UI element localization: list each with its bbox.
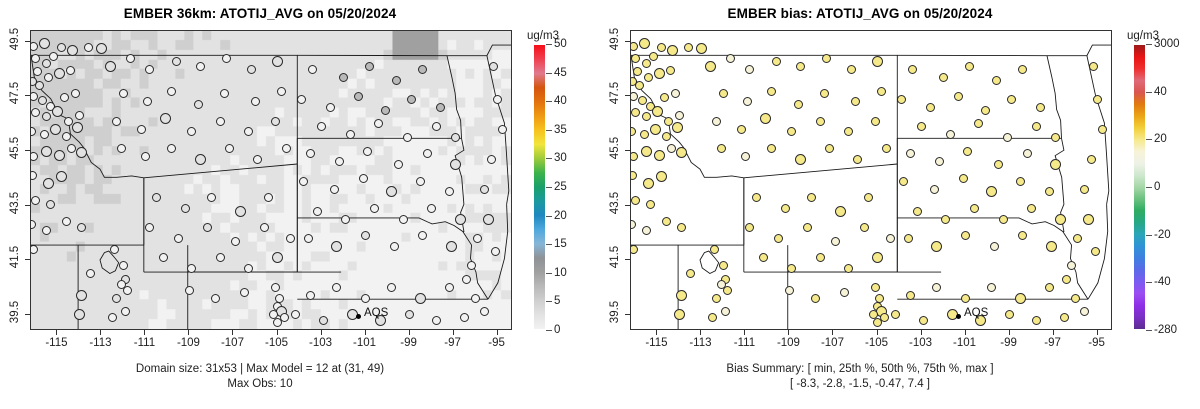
x-axis-label: -101 xyxy=(353,337,376,349)
colorbar-tick xyxy=(546,301,552,302)
colorbar-tick-label: 30 xyxy=(554,152,567,164)
station-marker xyxy=(493,95,502,104)
y-axis-tick xyxy=(625,41,630,42)
station-marker xyxy=(719,261,728,270)
station-marker xyxy=(137,125,146,134)
x-axis-tick xyxy=(321,330,322,335)
station-marker xyxy=(796,62,805,71)
station-marker xyxy=(71,89,80,98)
station-marker xyxy=(1067,261,1076,270)
station-marker xyxy=(794,100,803,109)
station-marker xyxy=(110,245,119,254)
colorbar-tick xyxy=(546,44,552,45)
station-marker xyxy=(760,113,771,124)
station-marker xyxy=(726,54,735,63)
colorbar-tick-label: -40 xyxy=(1154,276,1171,288)
x-axis-label: -105 xyxy=(865,337,888,349)
station-marker xyxy=(30,245,38,254)
station-marker xyxy=(407,95,416,104)
station-marker xyxy=(899,177,908,186)
station-marker xyxy=(105,61,116,72)
station-marker xyxy=(455,214,466,225)
station-marker xyxy=(299,177,308,186)
x-axis-label: -95 xyxy=(1088,337,1105,349)
station-marker xyxy=(877,87,886,96)
station-marker xyxy=(271,283,280,292)
station-marker xyxy=(1062,275,1071,284)
station-marker xyxy=(487,155,496,164)
aqs-legend-label: AQS xyxy=(964,307,988,319)
station-marker xyxy=(235,206,246,217)
station-marker xyxy=(882,144,891,153)
station-marker xyxy=(1045,283,1054,292)
x-axis-label: -97 xyxy=(444,337,461,349)
y-axis-tick xyxy=(25,41,30,42)
x-axis-label: -97 xyxy=(1044,337,1061,349)
caption-bias: Bias Summary: [ min, 25th %, 50th %, 75t… xyxy=(600,362,1120,392)
x-axis-label: -111 xyxy=(134,337,155,349)
station-marker xyxy=(432,122,441,131)
station-marker xyxy=(654,150,665,161)
station-marker xyxy=(672,122,683,133)
station-marker xyxy=(160,113,171,124)
station-marker xyxy=(39,38,50,49)
y-axis-label: 49.5 xyxy=(9,28,21,50)
station-marker xyxy=(963,147,972,156)
station-marker xyxy=(50,124,61,135)
station-marker xyxy=(1023,149,1032,158)
station-marker xyxy=(708,313,717,322)
y-axis-label: 47.5 xyxy=(609,82,621,104)
station-marker xyxy=(30,92,38,101)
station-marker xyxy=(649,52,658,61)
station-marker xyxy=(630,171,637,180)
station-marker xyxy=(260,223,269,232)
station-marker xyxy=(346,130,355,139)
station-marker xyxy=(415,293,426,304)
station-marker xyxy=(390,242,399,251)
station-marker xyxy=(119,261,128,270)
station-marker xyxy=(676,147,687,158)
station-marker xyxy=(908,65,917,74)
station-marker xyxy=(919,316,928,325)
station-marker xyxy=(667,144,676,153)
station-marker xyxy=(1055,214,1066,225)
station-marker xyxy=(271,117,280,126)
station-marker xyxy=(752,193,761,202)
x-axis-tick xyxy=(232,330,233,335)
station-marker xyxy=(174,234,183,243)
station-marker xyxy=(886,234,895,243)
x-axis-label: -99 xyxy=(1000,337,1017,349)
station-marker xyxy=(737,125,746,134)
colorbar-bias: ug/m3 -280-40-20020403000 xyxy=(1127,30,1197,330)
station-marker xyxy=(152,193,161,202)
station-marker xyxy=(446,241,457,252)
y-axis-tick xyxy=(625,95,630,96)
station-marker xyxy=(787,264,796,273)
panel-model: EMBER 36km: ATOTIJ_AVG on 05/20/2024 AQS… xyxy=(0,0,600,409)
station-marker xyxy=(630,152,638,161)
station-marker xyxy=(304,234,313,243)
station-marker xyxy=(330,185,339,194)
colorbar-tick xyxy=(546,101,552,102)
station-marker xyxy=(774,234,783,243)
x-axis-tick xyxy=(188,330,189,335)
station-marker xyxy=(75,111,84,120)
station-marker xyxy=(216,253,225,262)
colorbar-tick-label: 40 xyxy=(1154,86,1167,98)
station-marker xyxy=(126,54,135,63)
x-axis-label: -103 xyxy=(309,337,332,349)
x-axis-tick xyxy=(1097,330,1098,335)
panel-bias: EMBER bias: ATOTIJ_AVG on 05/20/2024 AQS… xyxy=(600,0,1200,409)
x-axis-tick xyxy=(277,330,278,335)
x-axis-tick xyxy=(100,330,101,335)
station-marker xyxy=(970,204,979,213)
station-marker xyxy=(247,65,256,74)
station-marker xyxy=(1032,122,1041,131)
colorbar-tick xyxy=(1146,44,1152,45)
station-marker xyxy=(72,122,83,133)
station-marker xyxy=(1060,313,1069,322)
station-marker xyxy=(939,73,948,82)
colorbar-tick-label: 3000 xyxy=(1154,38,1180,50)
station-marker xyxy=(123,286,132,295)
station-marker xyxy=(825,144,834,153)
station-marker xyxy=(1018,65,1027,74)
station-marker xyxy=(272,56,283,67)
y-axis-tick xyxy=(625,205,630,206)
station-marker xyxy=(286,234,295,243)
station-marker xyxy=(313,207,322,216)
station-marker xyxy=(392,76,401,85)
station-marker xyxy=(423,149,432,158)
x-axis-label: -101 xyxy=(953,337,976,349)
station-marker xyxy=(54,150,65,161)
colorbar-tick xyxy=(546,330,552,331)
station-marker xyxy=(667,45,678,56)
colorbar-tick-label: 15 xyxy=(554,238,567,250)
station-marker xyxy=(30,152,38,161)
station-marker xyxy=(272,252,283,263)
station-marker xyxy=(54,68,65,79)
station-marker xyxy=(60,93,69,102)
station-marker xyxy=(326,103,335,112)
x-axis-tick xyxy=(965,330,966,335)
colorbar-tick xyxy=(546,216,552,217)
station-marker xyxy=(225,144,234,153)
station-marker xyxy=(317,122,326,131)
y-axis-label: 43.5 xyxy=(609,191,621,213)
station-marker xyxy=(677,223,686,232)
station-marker xyxy=(96,43,107,54)
station-marker xyxy=(339,73,348,82)
colorbar-tick xyxy=(1146,282,1152,283)
colorbar-gradient xyxy=(1133,44,1146,330)
station-marker xyxy=(427,204,436,213)
station-marker xyxy=(652,106,663,117)
station-marker xyxy=(660,93,669,102)
station-marker xyxy=(723,286,732,295)
station-marker xyxy=(767,87,776,96)
station-marker xyxy=(913,207,922,216)
station-marker xyxy=(64,117,73,126)
station-marker xyxy=(432,316,441,325)
station-marker xyxy=(1083,214,1094,225)
station-marker xyxy=(291,310,300,319)
station-marker xyxy=(990,242,999,251)
station-marker xyxy=(399,215,408,224)
station-marker xyxy=(185,286,194,295)
station-marker xyxy=(745,65,754,74)
colorbar-tick xyxy=(546,244,552,245)
x-axis-label: -99 xyxy=(400,337,417,349)
station-marker xyxy=(363,147,372,156)
station-marker xyxy=(1071,294,1080,303)
station-marker xyxy=(639,38,650,49)
station-marker xyxy=(52,106,63,117)
station-marker xyxy=(231,237,240,246)
station-marker xyxy=(630,42,638,51)
station-marker xyxy=(795,154,806,165)
station-marker xyxy=(38,96,47,105)
station-marker xyxy=(712,117,721,126)
station-marker xyxy=(359,174,368,183)
colorbar-tick-label: 10 xyxy=(554,267,567,279)
y-axis-tick xyxy=(25,95,30,96)
station-marker xyxy=(630,92,638,101)
station-marker xyxy=(498,125,507,134)
station-marker xyxy=(644,73,653,82)
station-marker xyxy=(891,310,900,319)
map-bias[interactable]: AQS xyxy=(630,30,1112,330)
station-marker xyxy=(187,264,196,273)
station-marker xyxy=(41,146,52,157)
caption-line-2: [ -8.3, -2.8, -1.5, -0.47, 7.4 ] xyxy=(600,377,1120,392)
station-marker xyxy=(460,313,469,322)
caption-line-1: Domain size: 31x53 | Max Model = 12 at (… xyxy=(0,362,520,377)
y-axis-label: 49.5 xyxy=(609,28,621,50)
station-marker xyxy=(717,144,726,153)
station-marker xyxy=(1087,155,1096,164)
station-marker xyxy=(381,106,390,115)
station-marker xyxy=(77,223,86,232)
station-marker xyxy=(785,286,794,295)
y-axis-label: 43.5 xyxy=(9,191,21,213)
colorbar-tick xyxy=(546,158,552,159)
station-marker xyxy=(31,54,40,63)
station-marker xyxy=(671,89,680,98)
station-marker xyxy=(62,132,71,141)
station-marker xyxy=(44,73,53,82)
colorbar-tick-label: 5 xyxy=(554,295,560,307)
station-marker xyxy=(194,100,203,109)
colorbar-tick xyxy=(1146,187,1152,188)
x-axis-tick xyxy=(656,330,657,335)
station-marker xyxy=(664,117,673,126)
station-marker xyxy=(710,245,719,254)
y-axis-label: 39.5 xyxy=(609,300,621,322)
station-marker xyxy=(926,103,935,112)
x-axis-tick xyxy=(365,330,366,335)
colorbar-tick-label: 35 xyxy=(554,124,567,136)
station-marker xyxy=(297,95,306,104)
station-marker xyxy=(871,283,880,292)
station-marker xyxy=(992,76,1001,85)
x-axis-tick xyxy=(453,330,454,335)
station-marker xyxy=(853,155,862,164)
station-marker xyxy=(203,223,212,232)
station-marker xyxy=(277,87,286,96)
station-marker xyxy=(462,275,471,284)
station-marker xyxy=(74,309,85,320)
station-marker xyxy=(1089,62,1098,71)
station-marker xyxy=(860,223,869,232)
station-marker xyxy=(117,144,126,153)
station-marker xyxy=(418,65,427,74)
station-marker xyxy=(1032,316,1041,325)
station-marker xyxy=(167,87,176,96)
colorbar-tick xyxy=(1146,139,1152,140)
x-axis-tick xyxy=(744,330,745,335)
colorbar-tick-label: 25 xyxy=(554,181,567,193)
station-marker xyxy=(1080,185,1089,194)
y-axis-tick xyxy=(25,314,30,315)
station-marker xyxy=(1098,125,1107,134)
station-marker xyxy=(904,234,913,243)
colorbar-tick-label: 20 xyxy=(554,210,567,222)
colorbar-tick-label: 40 xyxy=(554,95,567,107)
station-marker xyxy=(935,157,944,166)
x-axis-tick xyxy=(700,330,701,335)
station-marker xyxy=(46,200,55,209)
station-marker xyxy=(684,43,693,52)
colorbar-tick xyxy=(546,187,552,188)
station-marker xyxy=(631,196,640,205)
x-axis-label: -95 xyxy=(488,337,505,349)
station-marker xyxy=(941,215,950,224)
station-marker xyxy=(145,65,154,74)
station-marker xyxy=(631,54,640,63)
station-marker xyxy=(49,52,58,61)
colorbar-tick-label: -280 xyxy=(1154,324,1177,336)
station-marker xyxy=(696,43,707,54)
station-marker xyxy=(759,253,768,262)
panel-title-bias: EMBER bias: ATOTIJ_AVG on 05/20/2024 xyxy=(600,6,1120,21)
station-marker xyxy=(641,146,652,157)
station-marker xyxy=(1016,177,1025,186)
station-marker xyxy=(772,57,781,66)
y-axis-tick xyxy=(625,314,630,315)
colorbar-tick xyxy=(546,273,552,274)
x-axis-label: -109 xyxy=(177,337,200,349)
station-marker xyxy=(403,133,412,142)
station-marker xyxy=(436,103,445,112)
x-axis-tick xyxy=(409,330,410,335)
y-axis-label: 41.5 xyxy=(9,246,21,268)
station-marker xyxy=(640,130,649,139)
station-marker xyxy=(1007,95,1016,104)
caption-line-2: Max Obs: 10 xyxy=(0,377,520,392)
station-marker xyxy=(67,144,76,153)
station-marker xyxy=(816,253,825,262)
station-marker xyxy=(1027,204,1036,213)
station-marker xyxy=(906,291,915,300)
colorbar-tick xyxy=(546,73,552,74)
station-marker xyxy=(1003,133,1012,142)
caption-model: Domain size: 31x53 | Max Model = 12 at (… xyxy=(0,362,520,392)
x-axis-tick xyxy=(1053,330,1054,335)
station-marker xyxy=(930,185,939,194)
aqs-legend-dot xyxy=(956,314,961,319)
station-marker xyxy=(341,215,350,224)
y-axis-label: 41.5 xyxy=(609,246,621,268)
station-marker xyxy=(483,214,494,225)
station-marker xyxy=(306,291,315,300)
station-marker xyxy=(1036,103,1045,112)
y-axis-label: 45.5 xyxy=(9,137,21,159)
station-marker xyxy=(159,253,168,262)
station-marker xyxy=(319,316,328,325)
y-axis-label: 45.5 xyxy=(609,137,621,159)
station-marker xyxy=(361,231,370,240)
station-marker xyxy=(141,152,150,161)
x-axis-label: -113 xyxy=(689,337,711,349)
station-marker xyxy=(872,252,883,263)
station-marker xyxy=(195,154,206,165)
caption-line-1: Bias Summary: [ min, 25th %, 50th %, 75t… xyxy=(600,362,1120,377)
station-marker xyxy=(467,261,476,270)
station-marker xyxy=(917,122,926,131)
x-axis-label: -113 xyxy=(89,337,111,349)
station-marker xyxy=(807,193,816,202)
x-axis-tick xyxy=(497,330,498,335)
x-axis-label: -109 xyxy=(777,337,800,349)
station-marker xyxy=(181,204,190,213)
station-marker xyxy=(1046,241,1057,252)
station-marker xyxy=(416,177,425,186)
station-marker xyxy=(31,196,40,205)
station-marker xyxy=(282,144,291,153)
station-marker xyxy=(961,294,970,303)
aqs-legend-label: AQS xyxy=(364,307,388,319)
station-marker xyxy=(872,56,883,67)
station-marker xyxy=(946,130,955,139)
station-marker xyxy=(196,62,205,71)
colorbar-tick xyxy=(1146,92,1152,93)
station-marker xyxy=(471,294,480,303)
station-marker xyxy=(642,226,651,235)
station-marker xyxy=(30,171,37,180)
station-marker xyxy=(831,237,840,246)
station-marker xyxy=(897,95,906,104)
station-marker xyxy=(674,309,685,320)
x-axis-label: -111 xyxy=(734,337,755,349)
panel-title-model: EMBER 36km: ATOTIJ_AVG on 05/20/2024 xyxy=(0,6,520,21)
station-marker xyxy=(999,215,1008,224)
y-axis-label: 47.5 xyxy=(9,82,21,104)
x-axis-tick xyxy=(56,330,57,335)
station-marker xyxy=(84,43,93,52)
y-axis-label: 39.5 xyxy=(9,300,21,322)
station-marker xyxy=(480,185,489,194)
colorbar-tick-label: 45 xyxy=(554,67,567,79)
map-model[interactable]: AQS xyxy=(30,30,512,330)
station-marker xyxy=(112,117,121,126)
station-marker xyxy=(961,231,970,240)
station-marker xyxy=(871,117,880,126)
